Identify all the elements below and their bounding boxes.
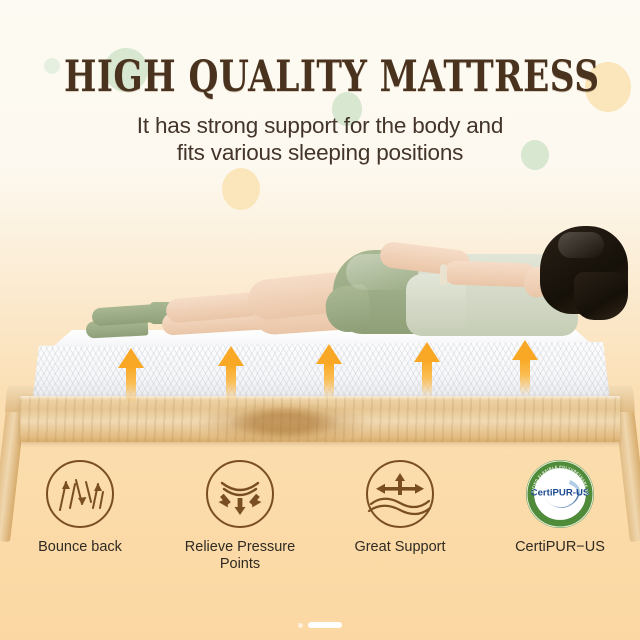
support-arrow [512,340,538,396]
hair-strands [574,272,628,320]
feature-bounce-back[interactable]: Bounce back [0,458,160,598]
feature-certipur-us[interactable]: CertiPUR-US CERTIFIED FLEXIBLE POLYURETH… [480,458,640,598]
forearm [444,260,537,287]
support-arrow [118,348,144,404]
feature-label: Bounce back [38,539,122,556]
feature-label: CertiPUR−US [515,539,605,556]
header: HIGH QUALITY MATTRESS It has strong supp… [0,0,640,167]
pagination-dot[interactable] [298,623,303,628]
support-arrow [316,344,342,400]
support-wave-arrows-icon [364,458,436,530]
subtitle-line-2: fits various sleeping positions [0,139,640,166]
feature-great-support[interactable]: Great Support [320,458,480,598]
product-image-slide: HIGH QUALITY MATTRESS It has strong supp… [0,0,640,640]
wrist-bracelet [440,264,447,286]
feature-label: Relieve Pressure Points [185,539,295,572]
support-arrow [414,342,440,398]
bounce-back-arrows-icon [44,458,116,530]
bed-scene [0,196,640,458]
page-title: HIGH QUALITY MATTRESS [64,56,576,99]
pagination-active-pill[interactable] [308,622,342,628]
bed-frame-rail [20,396,620,442]
certipur-us-badge-icon: CertiPUR-US CERTIFIED FLEXIBLE POLYURETH… [524,458,596,530]
subtitle-line-1: It has strong support for the body and [0,112,640,139]
pressure-relief-arrows-icon [204,458,276,530]
support-arrow [218,346,244,402]
carousel-pagination[interactable] [0,622,640,628]
badge-brand-text: CertiPUR-US [531,488,590,499]
hair-shine [558,232,604,258]
feature-label: Great Support [354,539,445,556]
feature-row: Bounce back Relieve Pressure Points [0,458,640,598]
model-woman-lying [88,224,558,346]
feature-relieve-pressure[interactable]: Relieve Pressure Points [160,458,320,598]
